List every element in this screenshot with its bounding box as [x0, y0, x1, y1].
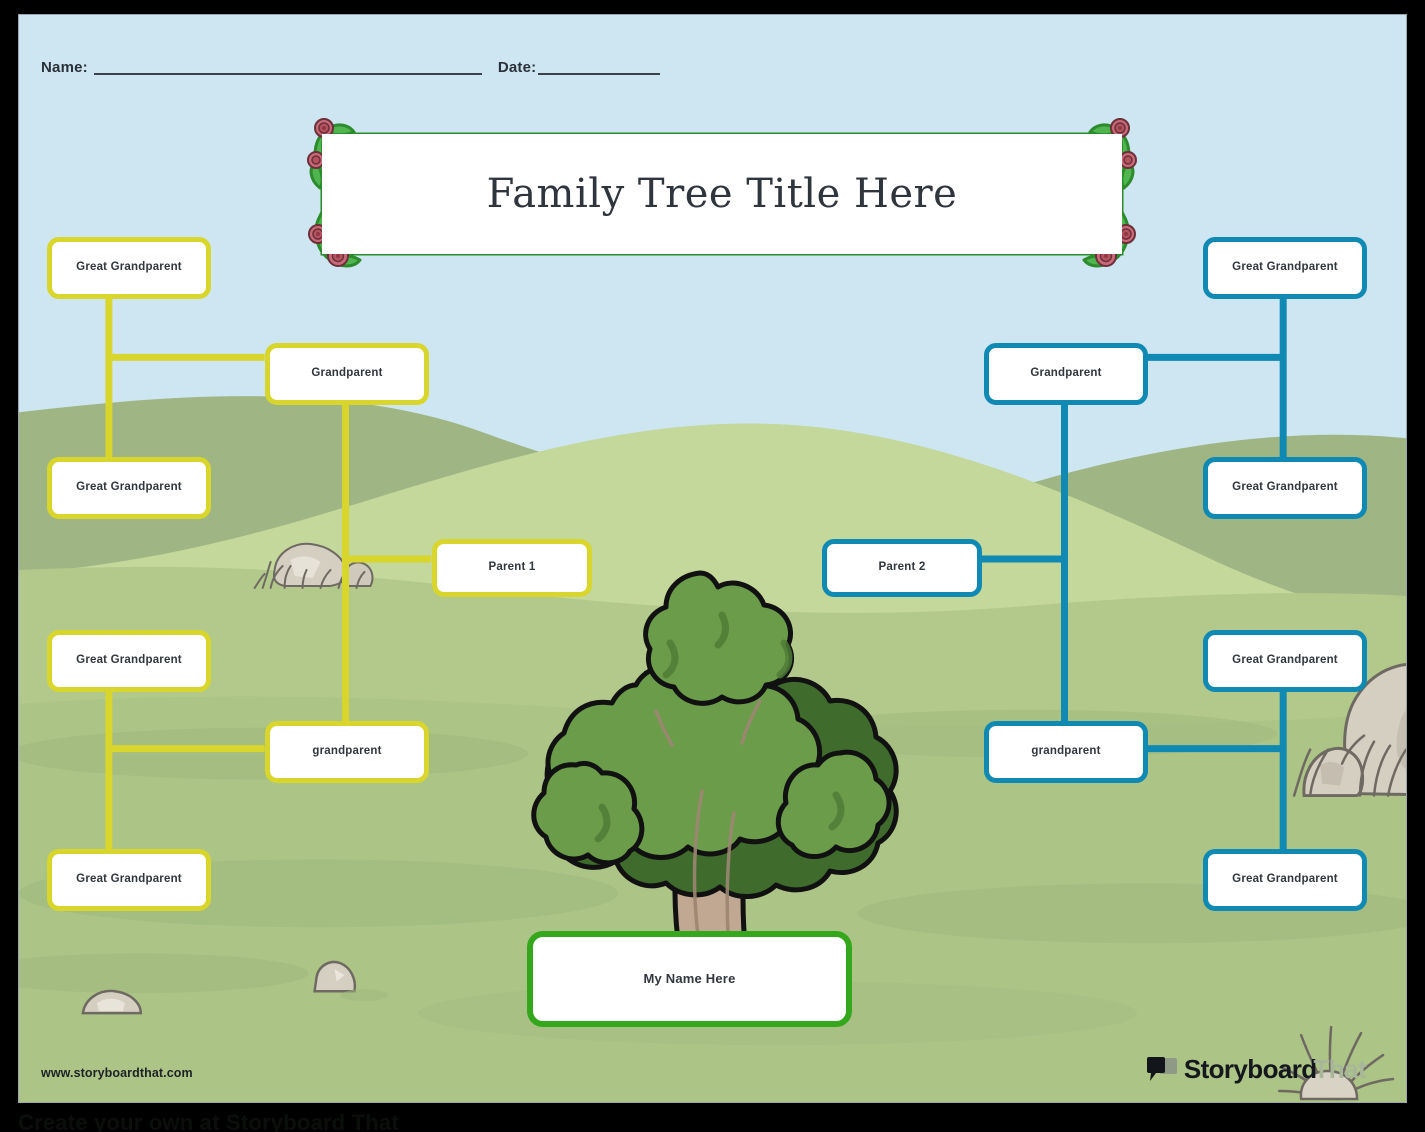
node-paternal-great-grandparent-4[interactable]: Great Grandparent: [1203, 849, 1367, 911]
node-label: Great Grandparent: [68, 873, 190, 887]
node-label: Great Grandparent: [1224, 481, 1346, 495]
worksheet-canvas: Family Tree Title Here Name: Date: Great…: [18, 14, 1407, 1103]
node-paternal-great-grandparent-3[interactable]: Great Grandparent: [1203, 630, 1367, 692]
node-label: Great Grandparent: [68, 261, 190, 275]
brand-wordmark: Storyboard That: [1184, 1056, 1366, 1082]
node-maternal-great-grandparent-1[interactable]: Great Grandparent: [47, 237, 211, 299]
node-label: Great Grandparent: [1224, 873, 1346, 887]
footer-url[interactable]: www.storyboardthat.com: [41, 1066, 193, 1080]
node-parent-2[interactable]: Parent 2: [822, 539, 982, 597]
name-date-header: Name: Date:: [41, 47, 701, 77]
node-maternal-great-grandparent-4[interactable]: Great Grandparent: [47, 849, 211, 911]
node-paternal-grandparent-1[interactable]: Grandparent: [984, 343, 1148, 405]
date-input[interactable]: [538, 73, 660, 75]
node-maternal-great-grandparent-2[interactable]: Great Grandparent: [47, 457, 211, 519]
node-label: Parent 2: [871, 561, 934, 575]
node-maternal-great-grandparent-3[interactable]: Great Grandparent: [47, 630, 211, 692]
name-input[interactable]: [94, 73, 482, 75]
node-label: My Name Here: [636, 971, 744, 987]
name-label: Name:: [41, 60, 88, 77]
node-paternal-great-grandparent-1[interactable]: Great Grandparent: [1203, 237, 1367, 299]
node-label: Great Grandparent: [1224, 654, 1346, 668]
date-label: Date:: [498, 60, 537, 77]
node-label: Grandparent: [1022, 367, 1109, 381]
title-text: Family Tree Title Here: [487, 171, 958, 217]
title-field[interactable]: Family Tree Title Here: [322, 134, 1122, 254]
node-label: Parent 1: [481, 561, 544, 575]
storyboard-that-logo[interactable]: Storyboard That: [1147, 1054, 1366, 1084]
node-paternal-great-grandparent-2[interactable]: Great Grandparent: [1203, 457, 1367, 519]
node-label: Great Grandparent: [1224, 261, 1346, 275]
node-paternal-grandparent-2[interactable]: grandparent: [984, 721, 1148, 783]
node-label: grandparent: [304, 745, 389, 759]
node-self[interactable]: My Name Here: [527, 931, 852, 1027]
node-maternal-grandparent-1[interactable]: Grandparent: [265, 343, 429, 405]
node-parent-1[interactable]: Parent 1: [432, 539, 592, 597]
node-label: Great Grandparent: [68, 654, 190, 668]
node-maternal-grandparent-2[interactable]: grandparent: [265, 721, 429, 783]
speech-bubble-icon: [1147, 1054, 1177, 1084]
brand-sub: That: [1314, 1056, 1366, 1082]
brand-main: Storyboard: [1184, 1056, 1317, 1082]
cutoff-caption: Create your own at Storyboard That: [18, 1110, 399, 1132]
node-label: Great Grandparent: [68, 481, 190, 495]
node-label: Grandparent: [303, 367, 390, 381]
title-plaque: Family Tree Title Here: [302, 118, 1142, 270]
node-label: grandparent: [1023, 745, 1108, 759]
worksheet-stage: Create your own at Storyboard That: [0, 0, 1425, 1132]
